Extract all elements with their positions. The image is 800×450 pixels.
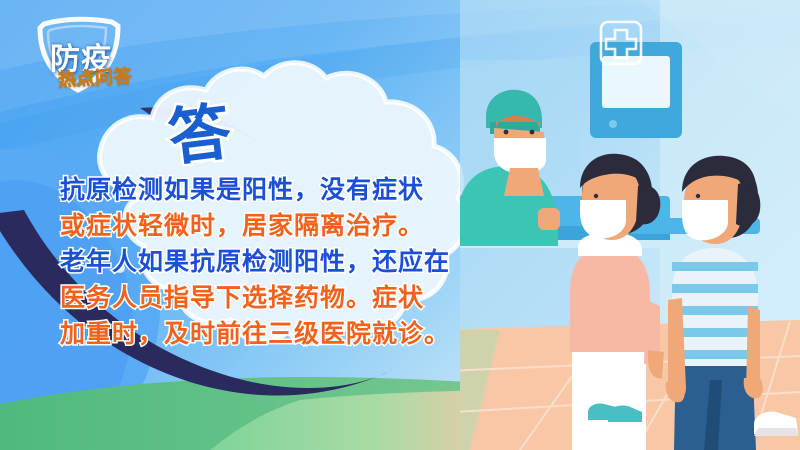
answer-line-5: 加重时，及时前往三级医院就诊。 xyxy=(60,316,490,352)
poster-canvas: 防疫 热点问答 答 抗原检测如果是阳性，没有症状 或症状轻微时，居家隔离治疗。 … xyxy=(0,0,800,450)
answer-line-1: 抗原检测如果是阳性，没有症状 xyxy=(60,172,490,208)
answer-line-4: 医务人员指导下选择药物。症状 xyxy=(60,280,490,316)
logo-sub-text: 热点问答 xyxy=(57,62,132,92)
answer-line-3: 老年人如果抗原检测阳性，还应在 xyxy=(60,244,490,280)
answer-text-block: 抗原检测如果是阳性，没有症状 或症状轻微时，居家隔离治疗。 老年人如果抗原检测阳… xyxy=(60,172,490,352)
answer-marker: 答 xyxy=(163,81,236,178)
program-logo: 防疫 热点问答 xyxy=(14,14,150,98)
medical-cross-icon xyxy=(592,16,650,72)
answer-line-2: 或症状轻微时，居家隔离治疗。 xyxy=(60,208,490,244)
